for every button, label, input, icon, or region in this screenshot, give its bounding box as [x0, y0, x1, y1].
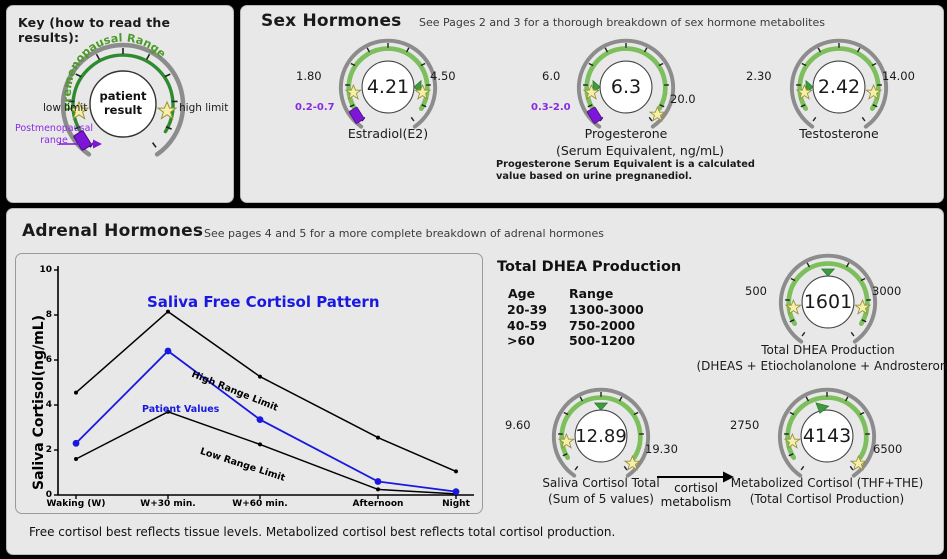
- adrenal-hormones-subtitle: See pages 4 and 5 for a more complete br…: [204, 227, 604, 240]
- gauge-saliva-cortisol-label-line2: (Sum of 5 values): [548, 492, 654, 506]
- chart-series-low-range-limit: [76, 412, 456, 494]
- chart-x-tick: Waking (W): [36, 499, 116, 509]
- dhea-table-body: 20-39 1300-3000 40-59 750-2000 >60 500-1…: [507, 302, 644, 348]
- dhea-range-table: Age Range 20-39 1300-3000 40-59 750-2000…: [507, 285, 644, 348]
- gauge-saliva-cortisol-high: 19.30: [645, 442, 678, 456]
- progesterone-note: Progesterone Serum Equivalent is a calcu…: [496, 159, 755, 183]
- gauge-center: [600, 61, 652, 113]
- gauge-saliva-cortisol-low: 9.60: [505, 418, 531, 432]
- dhea-age-cell: >60: [507, 333, 547, 348]
- dhea-age-cell: 20-39: [507, 302, 547, 317]
- key-postmenopausal-arrow-icon: [59, 138, 103, 150]
- gauge-result-marker: [822, 269, 835, 276]
- dhea-range-cell: 500-1200: [547, 333, 644, 348]
- table-row: >60 500-1200: [507, 333, 644, 348]
- dhea-age-cell: 40-59: [507, 318, 547, 333]
- key-low-limit-label: low limit: [43, 102, 87, 114]
- dhea-col-age: Age: [507, 285, 547, 302]
- key-center-line1: patient: [100, 90, 147, 104]
- dhea-col-range: Range: [547, 285, 644, 302]
- gauge-center: [813, 61, 865, 113]
- dhea-table-header-row: Age Range: [507, 285, 644, 302]
- gauge-estradiol-label: Estradiol(E2): [318, 126, 458, 141]
- gauge-total-dhea-low: 500: [745, 284, 767, 298]
- gauge-progesterone-label-line2: (Serum Equivalent, ng/mL): [556, 143, 724, 158]
- dhea-table-head: Age Range: [507, 285, 644, 302]
- gauge-progesterone-high: 20.0: [670, 92, 696, 106]
- gauge-progesterone-postmenopausal: 0.3-2.0: [531, 102, 571, 113]
- gauge-metabolized-cortisol-label-line2: (Total Cortisol Production): [750, 492, 904, 506]
- chart-x-tick: Night: [416, 499, 496, 509]
- progesterone-note-line2: value based on urine pregnanediol.: [496, 171, 692, 182]
- chart-x-tick: W+60 min.: [220, 499, 300, 509]
- chart-x-tick: Afternoon: [338, 499, 418, 509]
- table-row: 40-59 750-2000: [507, 318, 644, 333]
- chart-plot: [16, 254, 482, 513]
- gauge-progesterone-label: Progesterone (Serum Equivalent, ng/mL): [556, 126, 696, 160]
- chart-x-tick: W+30 min.: [128, 499, 208, 509]
- key-panel: Key (how to read the results):: [6, 5, 234, 203]
- adrenal-hormones-panel: Adrenal Hormones See pages 4 and 5 for a…: [6, 208, 944, 555]
- adrenal-footer-note: Free cortisol best reflects tissue level…: [29, 525, 615, 539]
- gauge-metabolized-cortisol-low: 2750: [730, 418, 759, 432]
- gauge-total-dhea-label-line2: (DHEAS + Etiocholanolone + Androsterone): [697, 359, 947, 373]
- gauge-result-marker: [595, 403, 608, 410]
- chart-points-high-range-limit: [74, 310, 458, 474]
- report-page: Key (how to read the results):: [0, 0, 947, 559]
- table-row: 20-39 1300-3000: [507, 302, 644, 317]
- gauge-testosterone-low: 2.30: [746, 69, 772, 83]
- gauge-center: [801, 410, 853, 462]
- adrenal-hormones-title: Adrenal Hormones: [22, 221, 203, 241]
- gauge-center: [575, 410, 627, 462]
- gauge-total-dhea-high: 3000: [872, 284, 901, 298]
- gauge-metabolized-cortisol-label: Metabolized Cortisol (THF+THE) (Total Co…: [707, 475, 947, 507]
- sex-hormones-title: Sex Hormones: [261, 11, 402, 31]
- gauge-postmenopausal-block: [349, 107, 364, 124]
- saliva-cortisol-chart: Saliva Cortisol(ng/mL) Saliva Free Corti…: [15, 253, 483, 514]
- key-center-line2: result: [104, 104, 142, 118]
- gauge-metabolized-cortisol-label-line1: Metabolized Cortisol (THF+THE): [731, 476, 924, 490]
- gauge-center: [362, 61, 414, 113]
- gauge-total-dhea-label-line1: Total DHEA Production: [761, 343, 895, 357]
- gauge-saliva-cortisol-label-line1: Saliva Cortisol Total: [542, 476, 659, 490]
- dhea-range-cell: 750-2000: [547, 318, 644, 333]
- gauge-estradiol-low: 1.80: [296, 69, 322, 83]
- chart-annotation-patient-values: Patient Values: [142, 404, 219, 415]
- gauge-progesterone-low: 6.0: [542, 69, 560, 83]
- gauge-center: [802, 276, 854, 328]
- gauge-testosterone-label-line1: Testosterone: [799, 126, 879, 141]
- gauge-total-dhea-svg: [773, 247, 883, 357]
- gauge-estradiol-postmenopausal: 0.2-0.7: [295, 102, 335, 113]
- gauge-total-dhea-label: Total DHEA Production (DHEAS + Etiochola…: [668, 342, 947, 374]
- gauge-total-dhea-production: 1601: [773, 247, 883, 357]
- dhea-range-cell: 1300-3000: [547, 302, 644, 317]
- sex-hormones-panel: Sex Hormones See Pages 2 and 3 for a tho…: [240, 5, 944, 203]
- gauge-estradiol-high: 4.50: [430, 69, 456, 83]
- progesterone-note-line1: Progesterone Serum Equivalent is a calcu…: [496, 159, 755, 170]
- key-high-limit-label: high limit: [179, 102, 228, 114]
- gauge-progesterone-label-line1: Progesterone: [585, 126, 668, 141]
- total-dhea-production-heading: Total DHEA Production: [497, 259, 681, 275]
- gauge-postmenopausal-block: [587, 107, 602, 124]
- gauge-testosterone-label: Testosterone: [769, 126, 909, 141]
- gauge-testosterone-high: 14.00: [882, 69, 915, 83]
- gauge-estradiol-label-line1: Estradiol(E2): [348, 126, 428, 141]
- gauge-metabolized-cortisol-high: 6500: [873, 442, 902, 456]
- sex-hormones-subtitle: See Pages 2 and 3 for a thorough breakdo…: [419, 16, 825, 29]
- key-postmenopausal-line1: Postmenopausal: [15, 123, 93, 134]
